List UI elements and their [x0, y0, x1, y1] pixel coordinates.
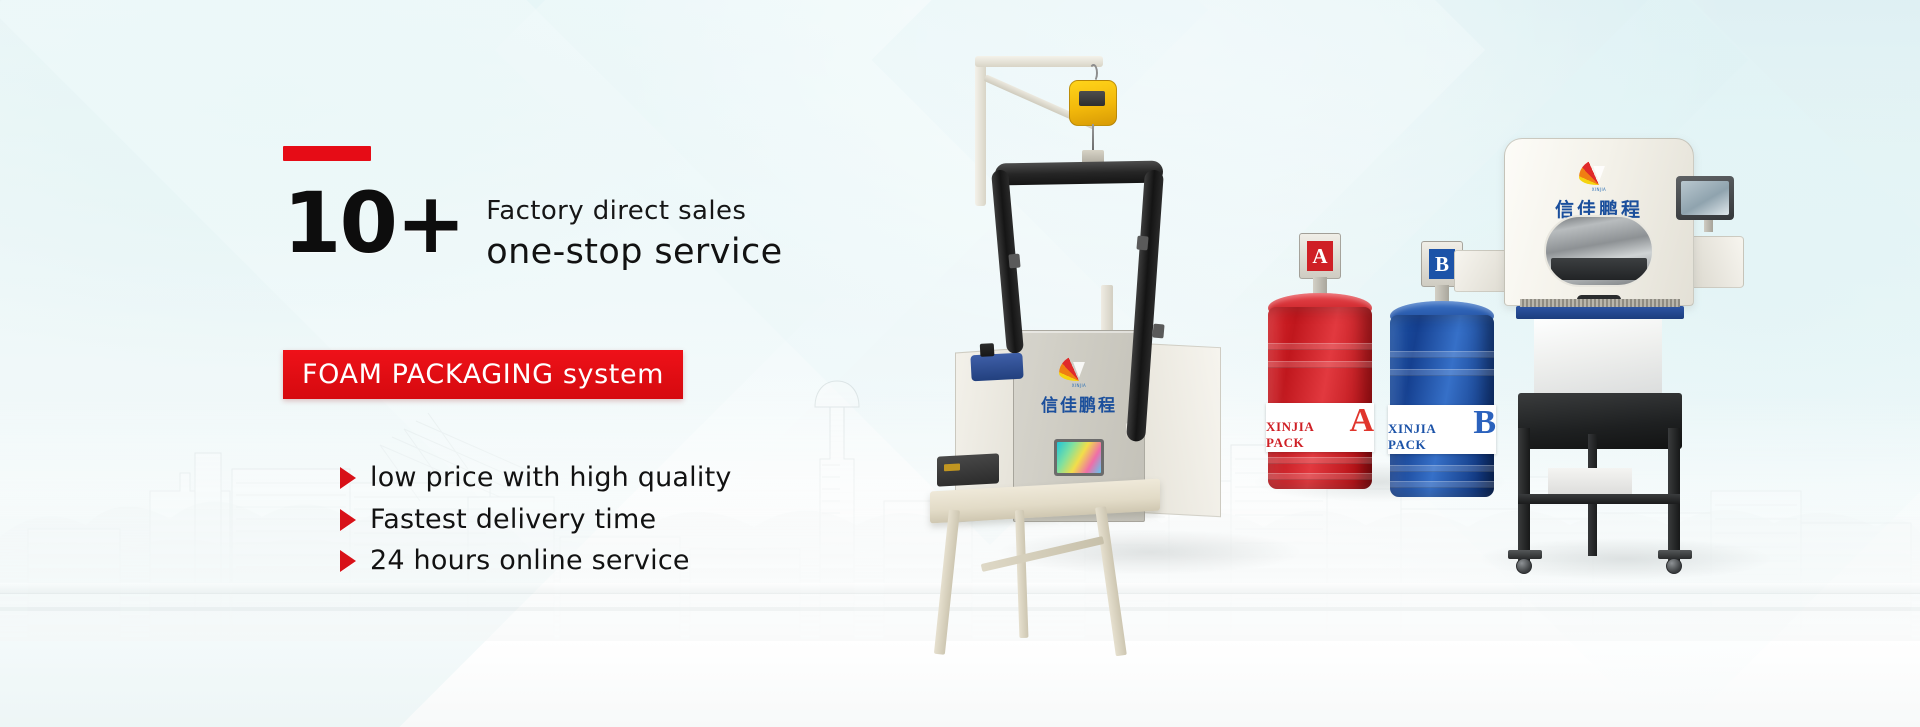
product-imagery: XINJIA 信佳鹏程 — [0, 0, 1920, 727]
drum-rib — [1268, 457, 1372, 464]
drum-rib — [1390, 369, 1494, 376]
hmi-screen[interactable] — [1057, 442, 1101, 473]
table-leg — [1095, 506, 1127, 656]
dispenser-arm-top — [995, 161, 1163, 186]
controller-box — [937, 453, 999, 486]
drum-a-letter: A — [1349, 407, 1374, 434]
drum-a-label: XINJIA PACK A — [1266, 403, 1374, 452]
machine2-right-wing — [1690, 236, 1744, 288]
drum-rib — [1390, 351, 1494, 358]
spring-balancer — [1069, 80, 1117, 126]
machine2-head-housing: XINJIA 信佳鹏程 — [1504, 138, 1694, 306]
foam-film-sheet — [1534, 319, 1662, 397]
brand-sub-text: XINJIA — [1014, 383, 1144, 388]
machine2-bed — [1518, 393, 1682, 449]
table-leg — [1015, 510, 1028, 638]
chemical-drum-a: A XINJIA PACK A — [1268, 285, 1372, 490]
drum-b-label: XINJIA PACK B — [1388, 405, 1496, 454]
drum-rib — [1390, 481, 1494, 488]
foam-dispensing-station: XINJIA 信佳鹏程 — [955, 55, 1255, 575]
foam-dispensing-gun — [970, 353, 1023, 382]
arm-clamp — [1136, 236, 1148, 251]
drum-a-body — [1268, 307, 1372, 489]
drum-a-sign-letter: A — [1307, 241, 1333, 271]
caster-wheel-icon — [1516, 558, 1532, 574]
machine2-hmi-screen[interactable] — [1681, 181, 1729, 215]
drum-rib — [1268, 343, 1372, 350]
shelf-sheet — [1548, 468, 1632, 496]
stand-shelf — [1518, 494, 1680, 504]
brand-logo-left-machine: XINJIA 信佳鹏程 — [1014, 355, 1144, 416]
table-cross-brace — [981, 536, 1105, 572]
machine2-hmi-panel[interactable] — [1676, 176, 1734, 220]
chemical-drum-b: B XINJIA PACK B — [1390, 293, 1494, 498]
arm-clamp — [1152, 324, 1164, 339]
drum-rib — [1390, 465, 1494, 472]
drum-a-sign: A — [1299, 233, 1341, 279]
drum-a-brand: XINJIA PACK — [1266, 419, 1342, 451]
hmi-touch-panel[interactable] — [1054, 439, 1104, 476]
xinjia-fan-logo-icon — [1059, 355, 1099, 381]
brand-logo-right-machine: XINJIA 信佳鹏程 — [1505, 159, 1693, 222]
drum-b-brand: XINJIA PACK — [1388, 421, 1466, 453]
brand-sub-text: XINJIA — [1505, 187, 1693, 192]
film-viewing-window — [1544, 215, 1654, 287]
boom-assembly — [983, 58, 1123, 228]
machine2-left-wing — [1454, 250, 1508, 292]
boom-arm — [975, 56, 1103, 67]
promo-banner: 10+ Factory direct sales one-stop servic… — [0, 0, 1920, 727]
balancer-cable — [1092, 124, 1094, 150]
drum-b-sign-letter: B — [1429, 249, 1455, 279]
caster-wheel-icon — [1666, 558, 1682, 574]
table-leg — [934, 509, 960, 654]
arm-clamp — [1008, 254, 1020, 269]
brand-name-cn: 信佳鹏程 — [1014, 391, 1144, 416]
foam-in-bag-machine: XINJIA 信佳鹏程 — [1490, 138, 1750, 538]
sealing-rail — [1516, 306, 1684, 319]
drum-rib — [1268, 473, 1372, 480]
xinjia-fan-logo-icon — [1579, 159, 1619, 185]
drum-rib — [1268, 361, 1372, 368]
